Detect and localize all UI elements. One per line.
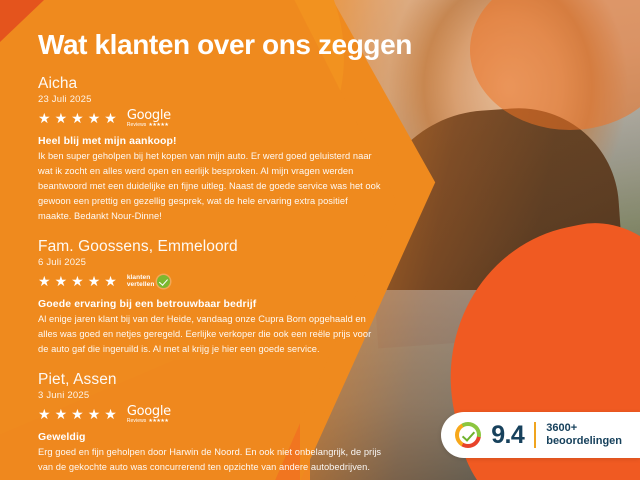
mini-star-icons: ★★★★★ <box>148 419 168 424</box>
rating-meta: 3600+ beoordelingen <box>546 422 622 449</box>
klantenvertellen-line1: klanten <box>127 274 155 281</box>
content-area: Wat klanten over ons zeggen Aicha 23 Jul… <box>0 0 640 480</box>
star-icon: ★ <box>88 407 101 421</box>
google-reviews-sub: Reviews ★★★★★ <box>127 123 171 128</box>
star-icon: ★ <box>55 111 68 125</box>
klantenvertellen-badge[interactable]: klanten vertellen <box>127 274 171 289</box>
review-count: 3600+ <box>546 422 622 435</box>
star-icon: ★ <box>104 274 117 288</box>
klantenvertellen-wordmark: klanten vertellen <box>127 274 155 289</box>
rating-row: ★ ★ ★ ★ ★ Google Reviews ★★★★★ <box>38 108 640 128</box>
reviewer-name: Aicha <box>38 75 640 93</box>
review-item: Aicha 23 Juli 2025 ★ ★ ★ ★ ★ Google Revi… <box>38 75 640 224</box>
klantenvertellen-line2: vertellen <box>127 281 155 288</box>
star-icon: ★ <box>88 274 101 288</box>
google-reviews-badge[interactable]: Google Reviews ★★★★★ <box>127 405 171 424</box>
check-circle-icon <box>157 275 170 288</box>
reviewer-name: Fam. Goossens, Emmeloord <box>38 238 640 256</box>
rating-score: 9.4 <box>491 423 524 448</box>
page-title: Wat klanten over ons zeggen <box>38 30 640 59</box>
review-headline: Heel blij met mijn aankoop! <box>38 135 640 147</box>
star-icon: ★ <box>38 111 51 125</box>
review-headline: Goede ervaring bij een betrouwbaar bedri… <box>38 298 640 310</box>
review-item: Fam. Goossens, Emmeloord 6 Juli 2025 ★ ★… <box>38 238 640 357</box>
google-reviews-label: Reviews <box>127 123 147 128</box>
star-icon: ★ <box>104 111 117 125</box>
star-rating: ★ ★ ★ ★ ★ <box>38 407 117 421</box>
review-date: 6 Juli 2025 <box>38 257 640 268</box>
mini-star-icons: ★★★★★ <box>148 123 168 128</box>
google-reviews-label: Reviews <box>127 419 147 424</box>
star-icon: ★ <box>104 407 117 421</box>
review-body: Erg goed en fijn geholpen door Harwin de… <box>38 445 383 475</box>
star-icon: ★ <box>71 407 84 421</box>
google-wordmark: Google <box>127 109 171 122</box>
star-icon: ★ <box>71 111 84 125</box>
star-icon: ★ <box>71 274 84 288</box>
star-icon: ★ <box>38 274 51 288</box>
star-rating: ★ ★ ★ ★ ★ <box>38 111 117 125</box>
divider <box>534 422 536 448</box>
review-count-label: beoordelingen <box>546 435 622 448</box>
star-icon: ★ <box>38 407 51 421</box>
star-icon: ★ <box>55 274 68 288</box>
review-body: Ik ben super geholpen bij het kopen van … <box>38 149 383 224</box>
google-wordmark: Google <box>127 405 171 418</box>
overall-rating-badge[interactable]: 9.4 3600+ beoordelingen <box>441 412 640 458</box>
review-body: Al enige jaren klant bij van der Heide, … <box>38 312 383 357</box>
star-icon: ★ <box>88 111 101 125</box>
google-reviews-badge[interactable]: Google Reviews ★★★★★ <box>127 109 171 128</box>
star-rating: ★ ★ ★ ★ ★ <box>38 274 117 288</box>
star-icon: ★ <box>55 407 68 421</box>
review-date: 3 Juni 2025 <box>38 390 640 401</box>
google-reviews-sub: Reviews ★★★★★ <box>127 419 171 424</box>
review-banner: Wat klanten over ons zeggen Aicha 23 Jul… <box>0 0 640 480</box>
review-date: 23 Juli 2025 <box>38 94 640 105</box>
reviewer-name: Piet, Assen <box>38 371 640 389</box>
rating-row: ★ ★ ★ ★ ★ klanten vertellen <box>38 271 640 291</box>
klantenvertellen-logo-icon <box>455 422 481 448</box>
